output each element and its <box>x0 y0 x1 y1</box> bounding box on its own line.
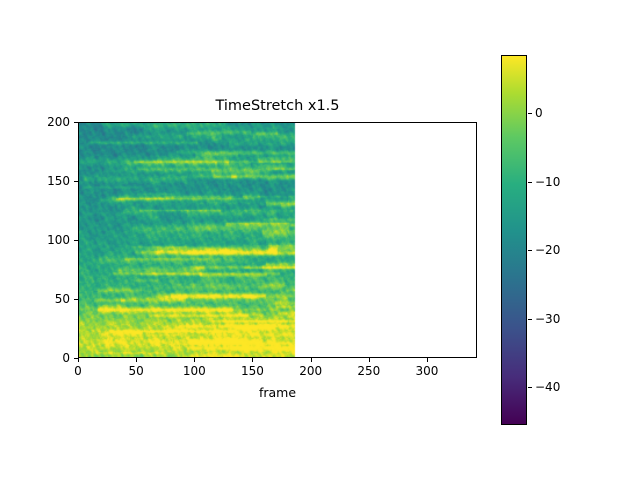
x-tick-mark <box>427 358 428 362</box>
y-tick-label: 100 <box>14 234 70 246</box>
x-axis-label: frame <box>78 385 477 400</box>
colorbar-tick-mark <box>528 387 532 388</box>
x-tick-mark <box>252 358 253 362</box>
matplotlib-figure: TimeStretch x1.5 050100150200250300 0501… <box>0 0 640 480</box>
y-tick-label: 200 <box>14 116 70 128</box>
x-tick-label: 250 <box>339 364 399 378</box>
colorbar-tick-mark <box>528 319 532 320</box>
colorbar-tick-label: −20 <box>535 244 560 256</box>
y-tick-mark <box>74 240 78 241</box>
colorbar-tick-label: −30 <box>535 313 560 325</box>
y-tick-mark <box>74 299 78 300</box>
page-title: TimeStretch x1.5 <box>78 97 477 115</box>
x-tick-mark <box>311 358 312 362</box>
x-tick-mark <box>136 358 137 362</box>
x-tick-label: 300 <box>397 364 457 378</box>
colorbar-tick-mark <box>528 250 532 251</box>
spectrogram-axes <box>78 122 477 358</box>
x-tick-mark <box>369 358 370 362</box>
x-tick-mark <box>78 358 79 362</box>
colorbar-tick-label: −40 <box>535 381 560 393</box>
y-tick-label: 50 <box>14 293 70 305</box>
x-tick-label: 150 <box>222 364 282 378</box>
y-tick-label: 150 <box>14 175 70 187</box>
y-tick-mark <box>74 181 78 182</box>
colorbar-gradient <box>502 56 526 424</box>
colorbar-tick-mark <box>528 182 532 183</box>
colorbar <box>501 55 527 425</box>
x-tick-label: 200 <box>281 364 341 378</box>
y-tick-mark <box>74 122 78 123</box>
y-tick-label: 0 <box>14 352 70 364</box>
colorbar-tick-label: 0 <box>535 107 543 119</box>
x-tick-label: 100 <box>164 364 224 378</box>
colorbar-tick-label: −10 <box>535 176 560 188</box>
x-tick-label: 50 <box>106 364 166 378</box>
x-tick-mark <box>194 358 195 362</box>
x-tick-label: 0 <box>48 364 108 378</box>
spectrogram-image <box>79 123 477 358</box>
y-tick-mark <box>74 358 78 359</box>
colorbar-tick-mark <box>528 113 532 114</box>
